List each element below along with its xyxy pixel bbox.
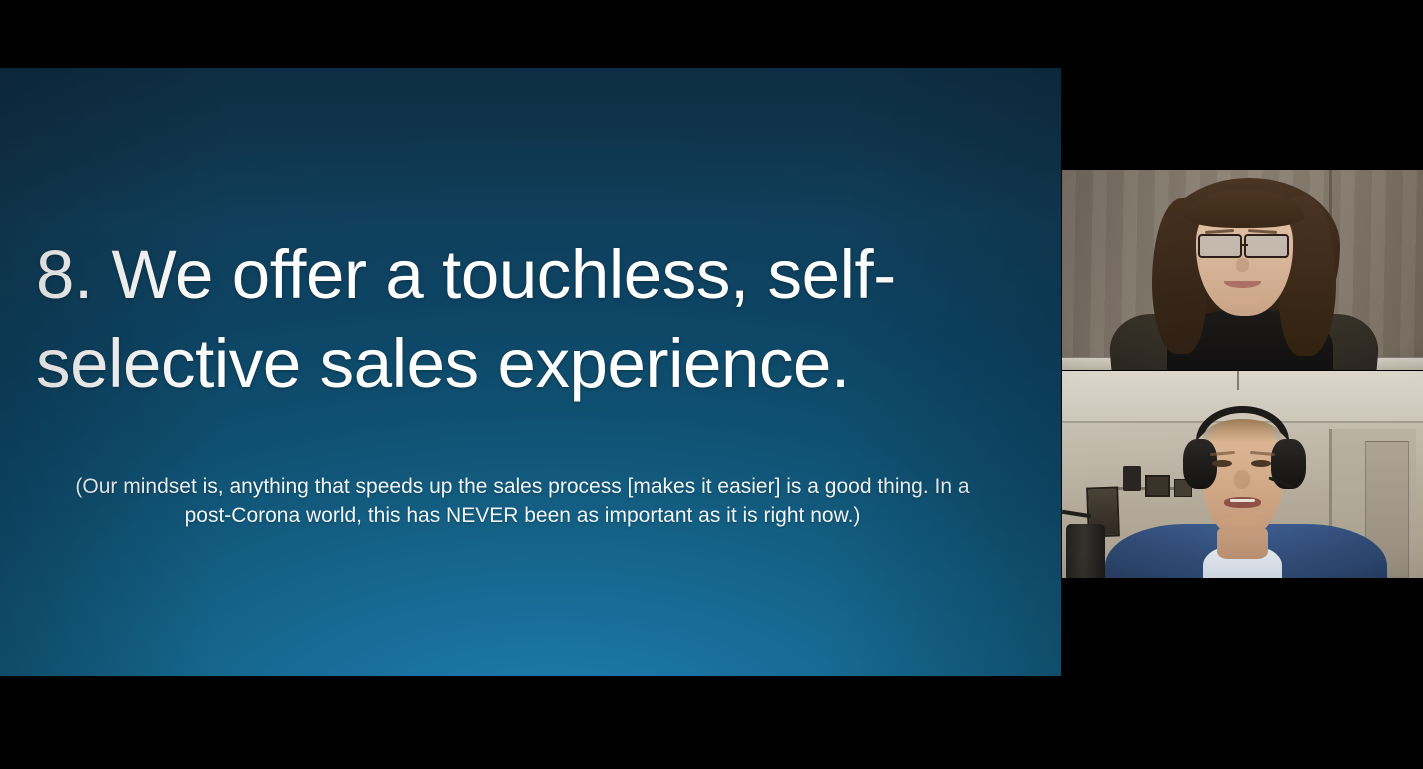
participant-2-shelf-object [1123,466,1141,491]
participant-1-eyeglass-bridge [1240,244,1248,246]
participant-2-picture-frame-small [1145,475,1170,498]
participant-1-chin [1221,296,1264,306]
shared-screen-slide[interactable]: 8. We offer a touchless, self- selective… [0,68,1061,676]
participant-2-dark-cylinder [1066,524,1106,578]
participant-2-eye-left [1212,460,1231,467]
slide-body-text: (Our mindset is, anything that speeds up… [60,473,985,530]
slide-title: 8. We offer a touchless, self- selective… [36,230,936,408]
participant-1-eyeglass-lens-left [1198,234,1243,258]
participant-1-eyeglass-lens-right [1244,234,1289,258]
participant-video-tile-2[interactable] [1062,371,1423,578]
participant-1-video-feed [1062,170,1423,370]
participant-2-ceiling-cord [1237,371,1239,390]
participant-2-nose [1234,470,1250,489]
participant-2-teeth [1230,499,1255,503]
participant-2-eye-right [1251,460,1270,467]
participant-video-tile-1[interactable] [1062,170,1423,370]
meeting-stage: 8. We offer a touchless, self- selective… [0,0,1423,769]
participant-2-video-feed [1062,371,1423,578]
participant-1-nose [1236,258,1249,272]
